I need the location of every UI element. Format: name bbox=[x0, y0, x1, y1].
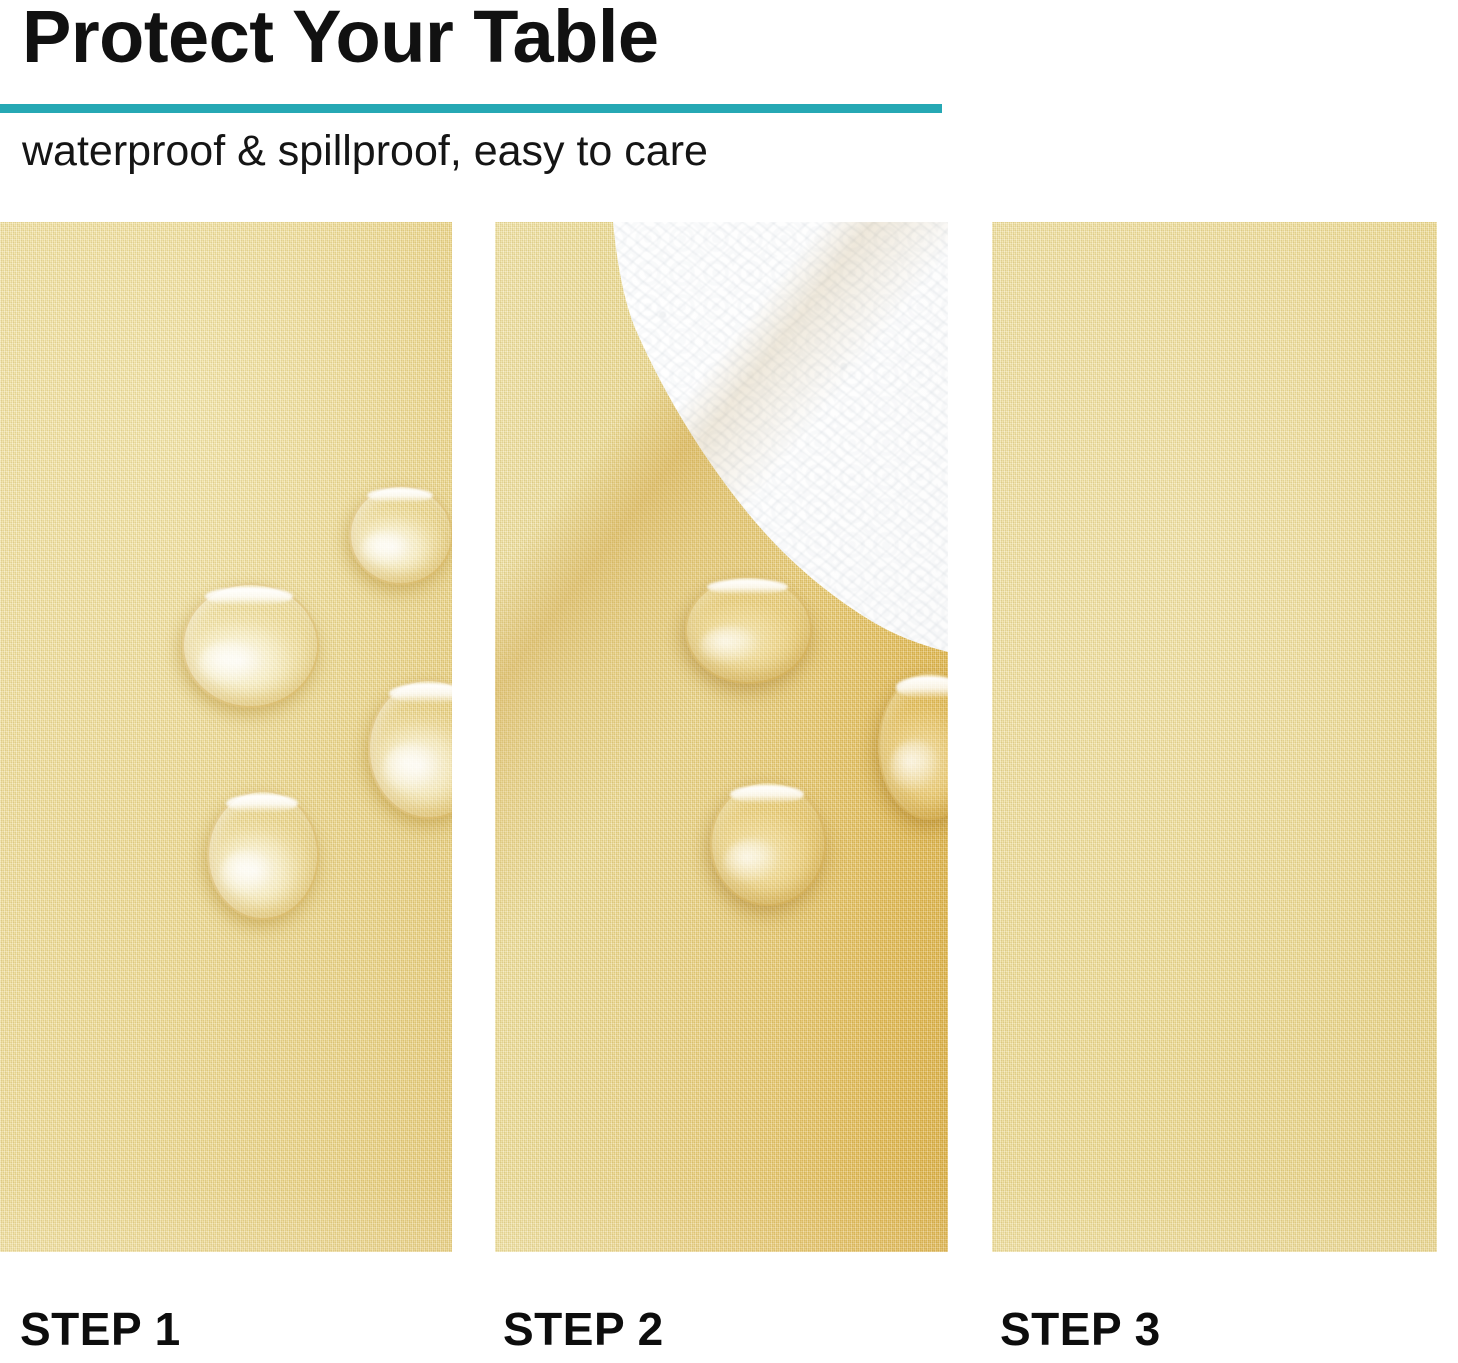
droplet-highlight bbox=[896, 676, 948, 698]
droplet-inner-glow bbox=[700, 626, 761, 665]
droplet-highlight bbox=[367, 488, 434, 503]
page-subtitle: waterproof & spillproof, easy to care bbox=[22, 127, 708, 176]
step-2-label: STEP 2 bbox=[503, 1302, 664, 1356]
droplet-inner-glow bbox=[724, 839, 780, 884]
droplet-highlight bbox=[205, 587, 293, 606]
water-droplet bbox=[207, 790, 319, 920]
droplet-inner-glow bbox=[383, 743, 442, 793]
water-droplet bbox=[685, 576, 812, 684]
water-droplet bbox=[349, 485, 452, 585]
step-1-label: STEP 1 bbox=[20, 1302, 181, 1356]
droplet-inner-glow bbox=[198, 641, 264, 686]
step-3-image bbox=[992, 222, 1437, 1252]
droplet-inner-glow bbox=[220, 850, 274, 897]
title-divider bbox=[0, 104, 942, 113]
droplet-inner-glow bbox=[361, 531, 411, 567]
page-title: Protect Your Table bbox=[22, 0, 659, 77]
step-1-image bbox=[0, 222, 452, 1252]
step-3-label: STEP 3 bbox=[1000, 1302, 1161, 1356]
fabric-background bbox=[992, 222, 1437, 1252]
droplet-highlight bbox=[730, 785, 804, 804]
water-droplet bbox=[710, 781, 826, 906]
water-droplet bbox=[182, 583, 319, 708]
step-2-image bbox=[495, 222, 948, 1252]
